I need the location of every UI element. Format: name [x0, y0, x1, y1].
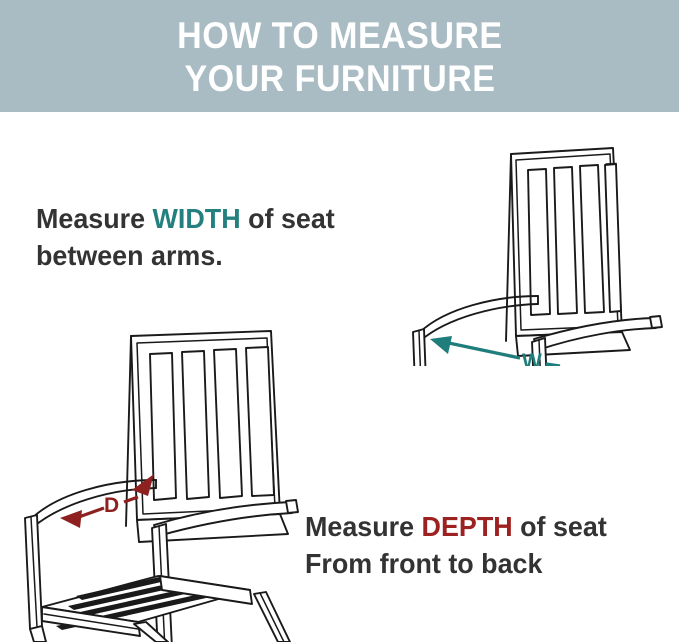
caption-width-line2: between arms. [36, 237, 335, 274]
header-title-line2: YOUR FURNITURE [184, 57, 495, 100]
depth-dimension-label: D [104, 494, 119, 517]
width-dimension-label: W [522, 350, 542, 366]
chair-illustration-width: W [398, 136, 673, 366]
caption-width-line1: Measure WIDTH of seat [36, 200, 335, 237]
width-arrow-left-head [430, 336, 452, 354]
depth-arrow-left-head [60, 510, 82, 528]
caption-measure-depth: Measure DEPTH of seat From front to back [305, 508, 607, 582]
caption-depth-line1: Measure DEPTH of seat [305, 508, 607, 545]
infographic-page: HOW TO MEASURE YOUR FURNITURE Measure WI… [0, 0, 679, 642]
header-title-line1: HOW TO MEASURE [177, 14, 502, 57]
keyword-width: WIDTH [153, 203, 241, 234]
caption-depth-text-after: of seat [513, 511, 607, 542]
chair-illustration-depth: D [18, 318, 308, 642]
keyword-depth: DEPTH [422, 511, 513, 542]
caption-width-text-after: of seat [241, 203, 335, 234]
header-banner: HOW TO MEASURE YOUR FURNITURE [0, 0, 679, 112]
caption-measure-width: Measure WIDTH of seat between arms. [36, 200, 335, 274]
width-arrow-left-segment [444, 342, 520, 358]
width-arrow-right-segment [546, 364, 560, 366]
caption-depth-line2: From front to back [305, 545, 607, 582]
caption-depth-text-before: Measure [305, 511, 422, 542]
caption-width-text-before: Measure [36, 203, 153, 234]
